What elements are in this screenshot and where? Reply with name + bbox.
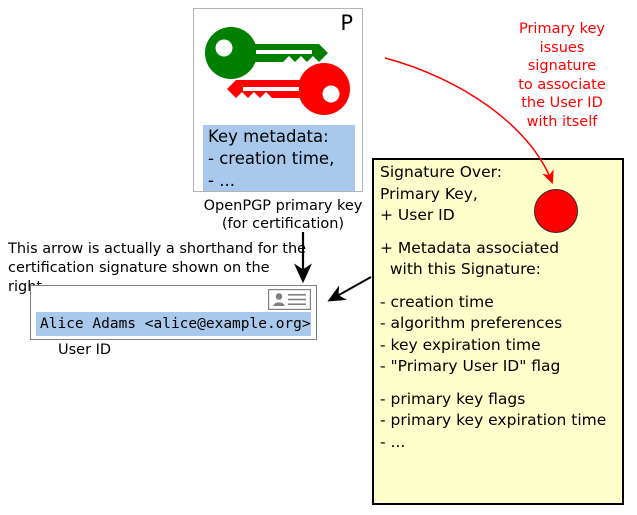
signature-line-1: Primary Key, bbox=[380, 184, 624, 206]
signature-line-8: - algorithm preferences bbox=[380, 313, 624, 335]
signature-line-4: + Metadata associated bbox=[380, 238, 624, 260]
primary-key-caption-line-1: OpenPGP primary key bbox=[203, 197, 363, 215]
key-metadata-heading: Key metadata: bbox=[208, 126, 351, 148]
signature-spacer-2 bbox=[380, 281, 624, 292]
red-note-line-5: the User ID bbox=[492, 94, 632, 113]
key-metadata-line-3: - ... bbox=[208, 170, 351, 191]
primary-key-caption: OpenPGP primary key (for certification) bbox=[203, 197, 363, 233]
shorthand-note-line-1: This arrow is actually a shorthand for t… bbox=[8, 240, 308, 259]
red-note-line-6: with itself bbox=[492, 113, 632, 132]
signature-line-12: - primary key flags bbox=[380, 389, 624, 411]
diagram-canvas: P Key metadata: - creation time, - ... bbox=[0, 0, 637, 515]
signature-line-0: Signature Over: bbox=[380, 162, 624, 184]
primary-key-card: P Key metadata: - creation time, - ... bbox=[193, 8, 363, 192]
signature-detail-box: Signature Over: Primary Key, + User ID +… bbox=[372, 158, 624, 505]
user-id-card: Alice Adams <alice@example.org> bbox=[30, 285, 317, 340]
signature-line-14: - ... bbox=[380, 432, 624, 454]
key-metadata-line-2: - creation time, bbox=[208, 148, 351, 170]
user-id-value: Alice Adams <alice@example.org> bbox=[36, 312, 311, 336]
signature-detail-text: Signature Over: Primary Key, + User ID +… bbox=[380, 162, 624, 453]
id-card-icon bbox=[268, 289, 311, 310]
signature-to-user-id-arrow bbox=[330, 277, 371, 300]
signature-line-2: + User ID bbox=[380, 205, 624, 227]
red-note-line-1: Primary key bbox=[492, 20, 632, 39]
red-note-line-4: to associate bbox=[492, 76, 632, 95]
red-annotation-note: Primary key issues signature to associat… bbox=[492, 20, 632, 131]
primary-key-caption-line-2: (for certification) bbox=[203, 215, 363, 233]
red-note-line-2: issues bbox=[492, 39, 632, 58]
red-circle-marker bbox=[534, 189, 578, 233]
signature-line-9: - key expiration time bbox=[380, 335, 624, 357]
red-note-line-3: signature bbox=[492, 57, 632, 76]
key-metadata-panel: Key metadata: - creation time, - ... bbox=[203, 125, 355, 191]
key-pair-illustration bbox=[194, 23, 362, 119]
user-id-caption: User ID bbox=[58, 341, 111, 359]
signature-line-7: - creation time bbox=[380, 292, 624, 314]
signature-spacer-3 bbox=[380, 378, 624, 389]
signature-line-13: - primary key expiration time bbox=[380, 410, 624, 432]
signature-line-5: with this Signature: bbox=[380, 259, 624, 281]
signature-line-10: - "Primary User ID" flag bbox=[380, 356, 624, 378]
signature-spacer-1 bbox=[380, 227, 624, 238]
